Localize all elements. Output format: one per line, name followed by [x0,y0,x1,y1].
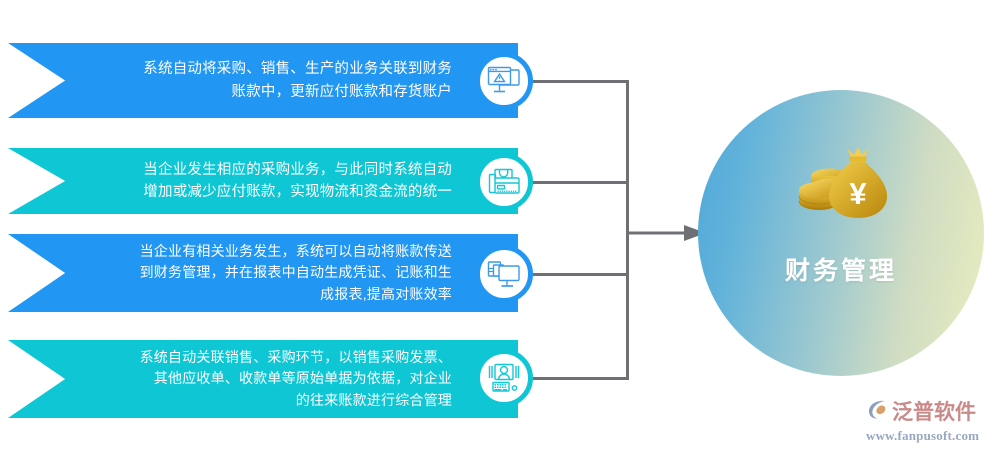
infographic-canvas: 系统自动将采购、销售、生产的业务关联到财务 账款中，更新应付账款和存货账户 当企… [0,0,993,452]
monitor-documents-icon [487,259,521,290]
banner-row-4[interactable]: 系统自动关联销售、采购环节，以销售采购发票、 其他应收单、收款单等原始单据为依据… [8,340,518,418]
terminal-user-icon [488,363,520,394]
connector-branch-3 [533,273,629,276]
connector-branch-4 [533,377,629,380]
icon-bubble-2[interactable] [475,153,533,211]
banner-label-3: 当企业有相关业务发生，系统可以自动将账款传送 到财务管理，并在报表中自动生成凭证… [140,241,518,305]
banner-label-1: 系统自动将采购、销售、生产的业务关联到财务 账款中，更新应付账款和存货账户 [143,58,518,102]
hub-label: 财务管理 [785,251,897,287]
hub-circle[interactable]: ¥ 财务管理 [698,90,984,376]
banner-label-4: 系统自动关联销售、采购环节，以销售采购发票、 其他应收单、收款单等原始单据为依据… [140,347,518,411]
fanpu-swirl-icon [866,398,889,426]
icon-bubble-3[interactable] [475,245,533,303]
icon-bubble-1[interactable] [475,52,533,110]
connector-branch-1 [533,80,629,83]
monitor-warning-icon [487,65,521,97]
banner-row-2[interactable]: 当企业发生相应的采购业务，与此同时系统自动 增加或减少应付账款，实现物流和资金流… [8,148,518,214]
brand-row: 泛普软件 [866,398,976,426]
currency-symbol: ¥ [849,176,867,211]
banner-label-2: 当企业发生相应的采购业务，与此同时系统自动 增加或减少应付账款，实现物流和资金流… [143,159,518,203]
brand-name: 泛普软件 [892,402,976,423]
wallet-card-icon [488,167,521,198]
connector-branch-2 [533,181,629,184]
money-bag-coins-icon: ¥ [785,134,897,227]
banner-row-1[interactable]: 系统自动将采购、销售、生产的业务关联到财务 账款中，更新应付账款和存货账户 [8,43,518,118]
brand-watermark[interactable]: 泛普软件 www.fanpusoft.com [866,398,988,446]
brand-url: www.fanpusoft.com [866,429,979,442]
banner-row-3[interactable]: 当企业有相关业务发生，系统可以自动将账款传送 到财务管理，并在报表中自动生成凭证… [8,234,518,312]
icon-bubble-4[interactable] [475,349,533,407]
